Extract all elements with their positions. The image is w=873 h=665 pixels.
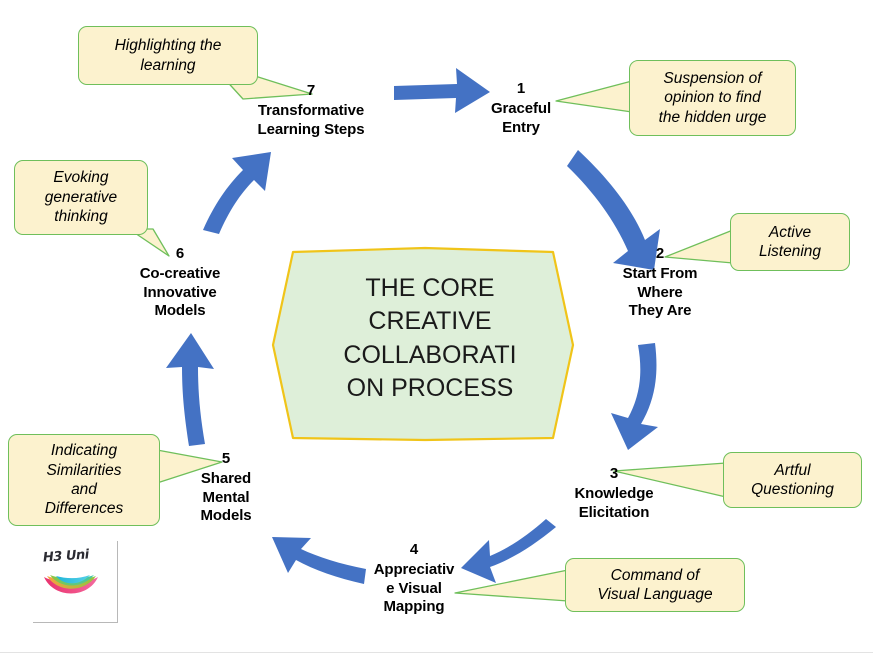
callout-step-7: Highlighting the learning — [78, 26, 258, 85]
logo-wordmark: H3 Uni — [43, 547, 90, 565]
step-label-1: 1 Graceful Entry — [480, 80, 562, 137]
center-title: THE CORE CREATIVE COLLABORATI ON PROCESS — [316, 272, 544, 405]
callout-tail-4 — [455, 570, 568, 601]
arrow-2-to-3 — [611, 343, 658, 450]
bottom-divider — [0, 652, 873, 653]
callout-step-2: Active Listening — [730, 213, 850, 271]
step-title-6: Co-creative Innovative Models — [120, 265, 240, 320]
step-label-4: 4 Appreciativ e Visual Mapping — [363, 541, 465, 616]
callout-step-5: Indicating Similarities and Differences — [8, 434, 160, 526]
callout-step-3: Artful Questioning — [723, 452, 862, 508]
step-number-7: 7 — [228, 82, 394, 100]
step-number-2: 2 — [598, 245, 722, 263]
step-title-1: Graceful Entry — [480, 100, 562, 137]
step-number-1: 1 — [480, 80, 562, 98]
step-label-2: 2 Start From Where They Are — [598, 245, 722, 320]
step-title-5: Shared Mental Models — [177, 470, 275, 525]
step-number-5: 5 — [177, 450, 275, 468]
callout-tail-1 — [556, 81, 632, 112]
arrow-5-to-6 — [166, 333, 214, 446]
step-label-6: 6 Co-creative Innovative Models — [120, 245, 240, 320]
arrow-4-to-5 — [272, 537, 366, 584]
step-label-3: 3 Knowledge Elicitation — [544, 465, 684, 522]
step-title-4: Appreciativ e Visual Mapping — [363, 561, 465, 616]
step-title-3: Knowledge Elicitation — [544, 485, 684, 522]
logo-container: H3 Uni — [33, 541, 118, 623]
step-title-2: Start From Where They Are — [598, 265, 722, 320]
step-label-7: 7 Transformative Learning Steps — [228, 82, 394, 139]
callout-step-1: Suspension of opinion to find the hidden… — [629, 60, 796, 136]
arrow-3-to-4 — [461, 519, 556, 583]
callout-step-6: Evoking generative thinking — [14, 160, 148, 235]
step-number-4: 4 — [363, 541, 465, 559]
arrow-6-to-7 — [203, 152, 271, 234]
diagram-canvas: THE CORE CREATIVE COLLABORATI ON PROCESS… — [0, 0, 873, 665]
step-number-3: 3 — [544, 465, 684, 483]
arrow-7-to-1 — [394, 68, 490, 113]
callout-step-4: Command of Visual Language — [565, 558, 745, 612]
step-title-7: Transformative Learning Steps — [228, 102, 394, 139]
step-number-6: 6 — [120, 245, 240, 263]
step-label-5: 5 Shared Mental Models — [177, 450, 275, 525]
